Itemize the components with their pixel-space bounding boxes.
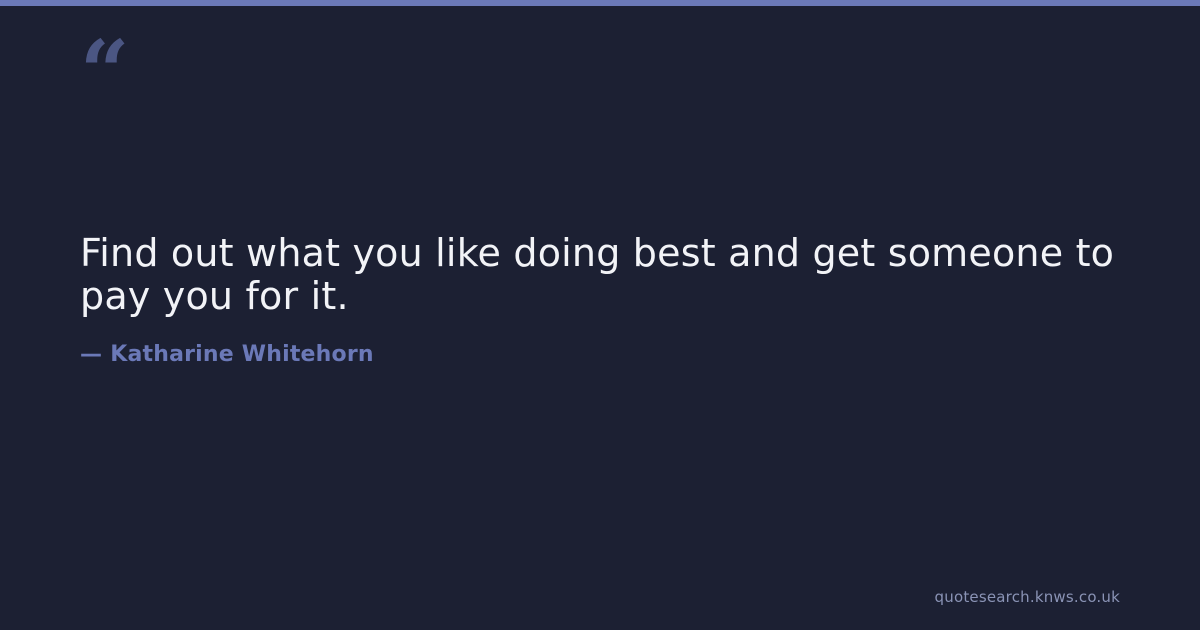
source-watermark: quotesearch.knws.co.uk bbox=[935, 588, 1120, 606]
quote-block: Find out what you like doing best and ge… bbox=[80, 232, 1120, 317]
attribution-author: Katharine Whitehorn bbox=[110, 342, 374, 367]
attribution-dash: — bbox=[80, 342, 102, 367]
quote-attribution: —Katharine Whitehorn bbox=[80, 342, 374, 367]
quote-text: Find out what you like doing best and ge… bbox=[80, 232, 1120, 317]
top-accent-bar bbox=[0, 0, 1200, 6]
quote-mark-icon: “ bbox=[80, 30, 129, 116]
quote-card: “ Find out what you like doing best and … bbox=[0, 0, 1200, 630]
